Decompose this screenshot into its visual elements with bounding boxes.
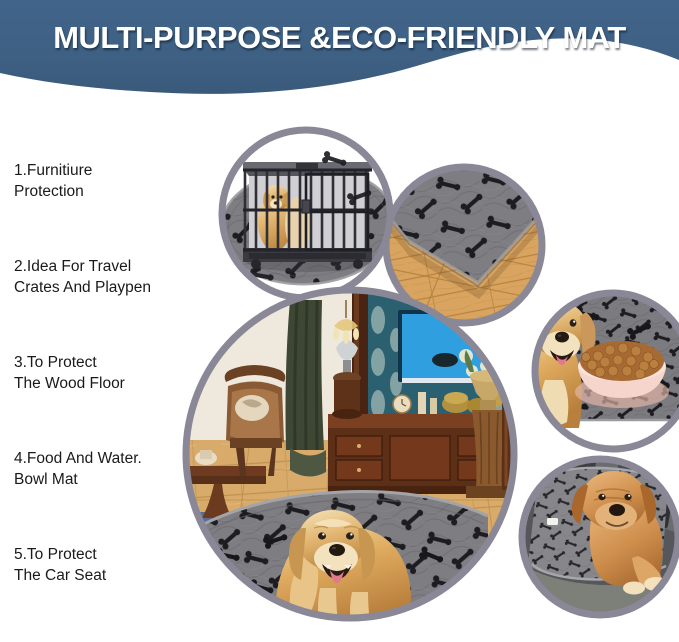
photo-dog-with-food-bowl-on-mat (520, 293, 679, 450)
photo-ring (535, 293, 679, 449)
food-bowl (575, 341, 669, 408)
photo-dog-crate-on-mat (216, 130, 400, 298)
dog-crate (243, 162, 372, 269)
dog (520, 301, 595, 428)
mat-surface (535, 293, 679, 425)
feature-item-4: 4.Food And Water. Bowl Mat (14, 448, 204, 490)
photo-mat-on-wood-floor (386, 167, 542, 323)
tv-console (328, 414, 528, 510)
dog (268, 510, 432, 631)
mat-surface (216, 162, 400, 290)
puppy (572, 471, 668, 595)
feature-item-1: 1.Furnitiure Protection (14, 160, 204, 202)
header-banner: MULTI-PURPOSE &ECO-FRIENDLY MAT (0, 0, 679, 112)
photo-ring (522, 459, 678, 615)
photo-puppy-on-car-seat-mat (522, 452, 678, 615)
product-infographic: MULTI-PURPOSE &ECO-FRIENDLY MAT 1.Furnit… (0, 0, 679, 642)
feature-item-3: 3.To Protect The Wood Floor (14, 352, 204, 394)
chandelier (333, 300, 359, 344)
page-title: MULTI-PURPOSE &ECO-FRIENDLY MAT (2, 19, 678, 57)
photo-ring (186, 290, 514, 618)
mat-surface (386, 167, 542, 282)
photo-ring (222, 130, 390, 298)
feature-list: 1.Furnitiure Protection 2.Idea For Trave… (14, 160, 204, 586)
console-decor (393, 392, 502, 414)
tv-wall (352, 290, 518, 450)
mat-surface (196, 492, 488, 637)
armchair (225, 365, 286, 476)
feature-item-5: 5.To Protect The Car Seat (14, 544, 204, 586)
feature-item-2: 2.Idea For Travel Crates And Playpen (14, 256, 204, 298)
pedestal-lamp (332, 340, 362, 419)
photo-dog-in-living-room-on-mat (186, 290, 528, 636)
dog-in-crate (258, 185, 311, 251)
photo-ring (386, 167, 542, 323)
mat-surface (528, 468, 668, 580)
flower-vase (459, 339, 512, 498)
